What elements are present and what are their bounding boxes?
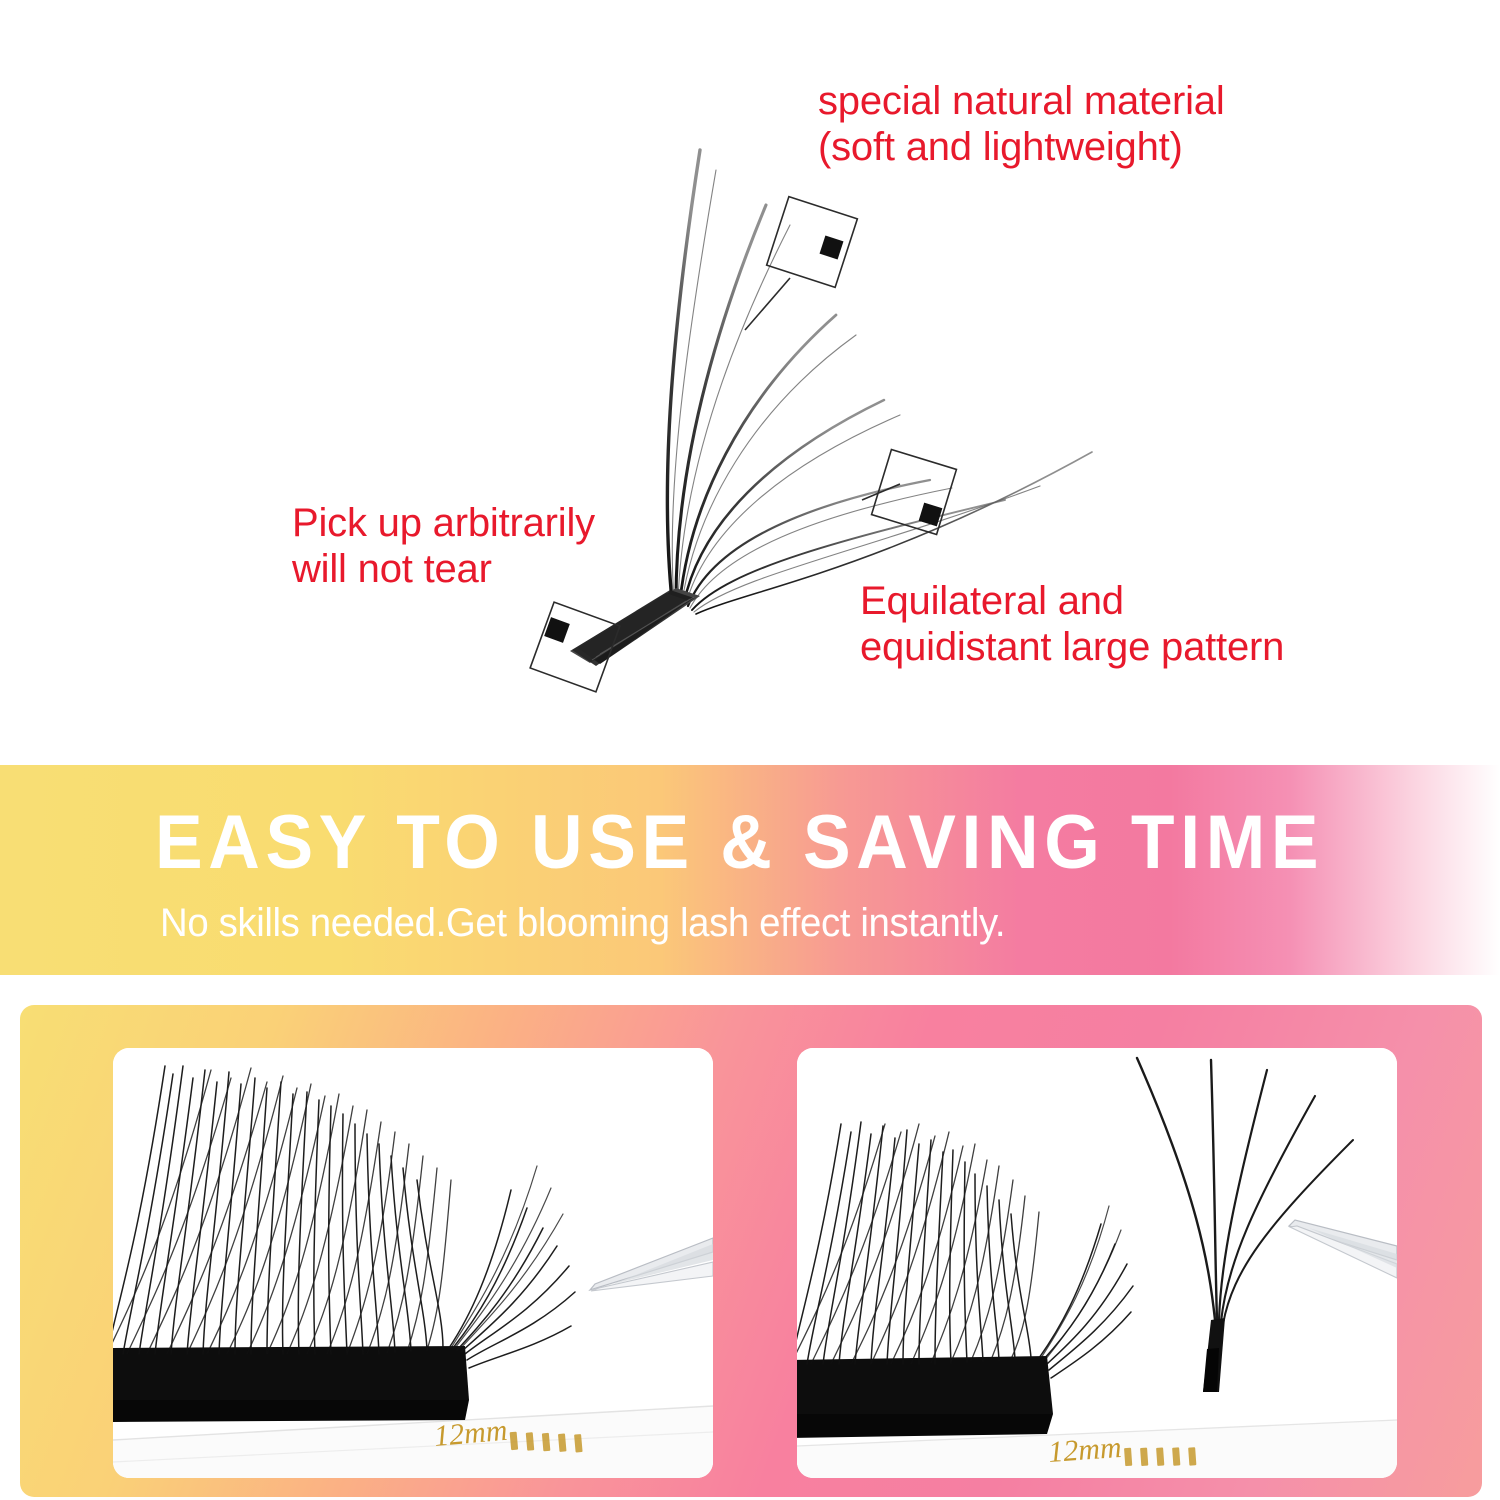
- banner-title: EASY TO USE & SAVING TIME: [155, 805, 1324, 881]
- callout-label-pickup: Pick up arbitrarily will not tear: [292, 500, 595, 593]
- callout-label-material: special natural material (soft and light…: [818, 78, 1225, 171]
- lash-fibers-secondary: [672, 170, 1040, 612]
- lash-tray-photo: 12mm: [113, 1048, 713, 1478]
- lash-base-root: [570, 588, 700, 666]
- svg-text:12mm: 12mm: [1047, 1431, 1122, 1469]
- banner-subtitle: No skills needed.Get blooming lash effec…: [160, 903, 1005, 943]
- photo-card-lash-fan-pickup[interactable]: 12mm: [797, 1048, 1397, 1478]
- lash-fan-pickup-photo: 12mm: [797, 1048, 1397, 1478]
- callout-label-pattern: Equilateral and equidistant large patter…: [860, 578, 1284, 671]
- lash-fibers: [667, 150, 1092, 614]
- photo-gallery-panel: 12mm: [20, 1005, 1482, 1497]
- photo-card-lash-tray[interactable]: 12mm: [113, 1048, 713, 1478]
- product-feature-page: special natural material (soft and light…: [0, 0, 1500, 1500]
- svg-text:12mm: 12mm: [433, 1414, 509, 1453]
- lash-fan-diagram-section: special natural material (soft and light…: [0, 0, 1500, 765]
- headline-banner: EASY TO USE & SAVING TIME No skills need…: [0, 765, 1500, 975]
